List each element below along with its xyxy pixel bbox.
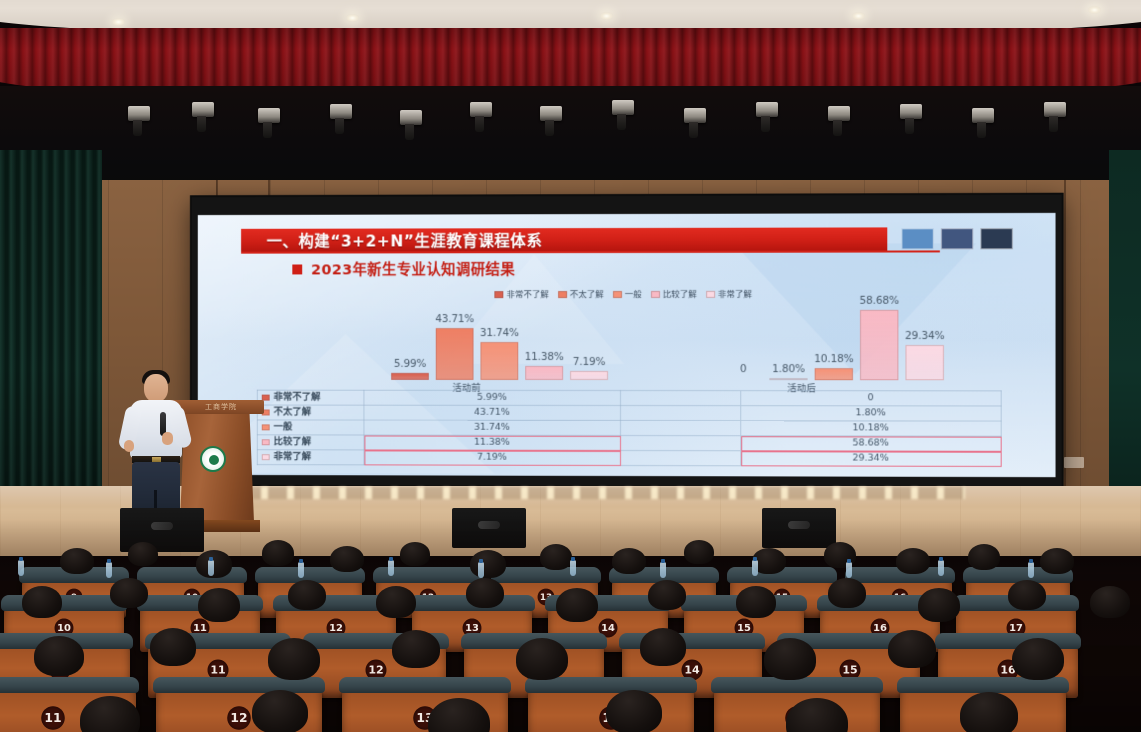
stage-light-icon	[828, 106, 850, 121]
table-row-label: 不太了解	[257, 405, 364, 420]
table-label-text: 比较了解	[274, 435, 312, 449]
stage-light-icon	[330, 104, 352, 119]
bar-value-label: 11.38%	[525, 351, 564, 363]
presentation-slide: 一、构建“3+2+N”生涯教育课程体系 2023年新生专业认知调研结果 非常不了…	[198, 213, 1056, 477]
bar	[815, 368, 853, 380]
water-bottle	[106, 562, 112, 578]
table-spacer-cell	[621, 420, 741, 435]
decor-block-2	[941, 228, 973, 249]
legend-item: 比较了解	[651, 288, 697, 300]
legend-item: 非常了解	[706, 288, 752, 300]
stage-light-icon	[470, 102, 492, 117]
audience-member-silhouette	[466, 578, 504, 608]
table-cell-before: 11.38%	[364, 435, 621, 450]
audience-member-silhouette	[252, 690, 308, 732]
projection-screen: 一、构建“3+2+N”生涯教育课程体系 2023年新生专业认知调研结果 非常不了…	[192, 195, 1062, 488]
audience-member-silhouette	[128, 542, 158, 566]
audience-member-silhouette	[828, 578, 866, 608]
slide-subtitle-row: 2023年新生专业认知调研结果	[292, 258, 515, 279]
water-bottle	[846, 562, 852, 578]
table-swatch-icon	[262, 424, 270, 430]
stage-light-icon	[540, 106, 562, 121]
table-cell-before: 43.71%	[364, 405, 621, 420]
table-spacer-cell	[621, 390, 741, 405]
audience-member-silhouette	[198, 588, 240, 622]
water-bottle	[18, 560, 24, 576]
bar-value-label: 0	[740, 363, 747, 375]
footlight-strip	[235, 487, 965, 499]
table-cell-after: 0	[741, 391, 1001, 406]
bar-value-label: 31.74%	[480, 327, 519, 339]
bar-value-label: 5.99%	[394, 358, 426, 370]
table-spacer-cell	[621, 435, 741, 450]
legend-item: 非常不了解	[495, 288, 549, 300]
bar	[525, 366, 563, 380]
legend-swatch-icon	[613, 291, 622, 298]
bullet-square-icon	[292, 264, 302, 274]
seat-headrest	[0, 677, 139, 693]
ceiling-downlight	[346, 14, 359, 22]
decor-block-3	[980, 228, 1012, 249]
bar	[480, 342, 518, 380]
water-bottle	[208, 560, 214, 576]
audience-member-silhouette	[22, 586, 62, 618]
bar-group-before: 5.99%43.71%31.74%11.38%7.19%	[391, 300, 608, 380]
bar-value-label: 7.19%	[573, 356, 605, 368]
legend-label: 不太了解	[570, 288, 604, 300]
legend-swatch-icon	[495, 291, 504, 298]
bar-column: 58.68%	[860, 300, 898, 380]
audience-member-silhouette	[764, 638, 816, 680]
table-cell-before: 5.99%	[364, 390, 621, 405]
table-row: 非常不了解5.99%0	[257, 390, 1001, 406]
stage-light-icon	[612, 100, 634, 115]
ceiling-downlight	[852, 12, 865, 20]
table-label-text: 非常了解	[274, 450, 312, 464]
chart-legend: 非常不了解不太了解一般比较了解非常了解	[198, 288, 1056, 301]
legend-swatch-icon	[651, 290, 660, 297]
table-spacer-cell	[621, 450, 741, 465]
table-row-label: 比较了解	[257, 435, 364, 450]
table-row-label: 非常不了解	[257, 390, 364, 405]
audience-member-silhouette	[516, 638, 568, 680]
audience-member-silhouette	[60, 548, 94, 574]
bar-column: 1.80%	[769, 300, 807, 380]
table-swatch-icon	[262, 439, 270, 445]
bar-column: 5.99%	[391, 300, 429, 380]
seat-number-badge: 11	[41, 706, 65, 730]
bar-column: 31.74%	[480, 300, 518, 380]
table-row: 一般31.74%10.18%	[257, 420, 1001, 436]
stage-light-icon	[756, 102, 778, 117]
data-table: 活动前活动后非常不了解5.99%0不太了解43.71%1.80%一般31.74%…	[257, 390, 1002, 467]
school-emblem-icon	[200, 446, 226, 472]
water-bottle	[660, 562, 666, 578]
bar-value-label: 10.18%	[814, 353, 853, 365]
legend-item: 不太了解	[558, 288, 604, 300]
decor-block-1	[901, 228, 933, 249]
legend-item: 一般	[613, 288, 642, 300]
table-label-text: 非常不了解	[274, 391, 321, 405]
water-bottle	[298, 562, 304, 578]
table-cell-after: 1.80%	[741, 406, 1001, 421]
table-cell-before: 31.74%	[364, 420, 621, 435]
bar-value-label: 58.68%	[860, 294, 899, 306]
audience-member-silhouette	[196, 550, 232, 578]
speaker-presenter	[120, 368, 192, 528]
audience-member-silhouette	[268, 638, 320, 680]
bar	[860, 309, 898, 380]
table-spacer-cell	[621, 405, 741, 420]
bar	[436, 328, 474, 380]
water-bottle	[478, 562, 484, 578]
audience-member-silhouette	[684, 540, 714, 564]
water-bottle	[938, 560, 944, 576]
audience-member-silhouette	[1012, 638, 1064, 680]
audience-member-silhouette	[376, 586, 416, 618]
table-cell-before: 7.19%	[364, 450, 621, 466]
speaker-head	[144, 374, 168, 402]
audience-member-silhouette	[612, 548, 646, 574]
bar-column: 10.18%	[815, 300, 853, 380]
audience-member-silhouette	[110, 578, 148, 608]
bar-column: 29.34%	[905, 300, 943, 381]
seat-headrest	[491, 567, 601, 583]
audience-member-silhouette	[1090, 586, 1130, 618]
table-row-label: 一般	[257, 420, 364, 435]
ceiling-downlight	[600, 12, 613, 20]
audience-member-silhouette	[606, 690, 662, 732]
legend-label: 非常了解	[718, 288, 752, 300]
slide-subtitle: 2023年新生专业认知调研结果	[311, 258, 515, 279]
audience-member-silhouette	[556, 588, 598, 622]
audience-member-silhouette	[960, 692, 1018, 732]
audience-member-silhouette	[540, 544, 572, 570]
slide-title-bar: 一、构建“3+2+N”生涯教育课程体系	[241, 227, 887, 251]
audience-member-silhouette	[392, 630, 440, 668]
audience-member-silhouette	[918, 588, 960, 622]
bar-value-label: 29.34%	[905, 330, 944, 342]
table-row: 比较了解11.38%58.68%	[257, 435, 1001, 452]
legend-label: 比较了解	[663, 288, 697, 300]
audience-member-silhouette	[648, 580, 686, 610]
speaker-left-hand	[124, 440, 134, 452]
audience-member-silhouette	[896, 548, 930, 574]
bar-column: 11.38%	[525, 300, 563, 380]
seat-number-badge: 12	[227, 706, 251, 730]
bar-group-after: 01.80%10.18%58.68%29.34%	[724, 300, 944, 381]
legend-label: 非常不了解	[507, 288, 549, 300]
bar-chart: 5.99%43.71%31.74%11.38%7.19% 01.80%10.18…	[198, 300, 1056, 393]
water-bottle	[570, 560, 576, 576]
bar-column: 0	[724, 300, 762, 380]
podium-engraving: 工商学院	[184, 402, 258, 412]
ceiling-downlight	[112, 18, 125, 26]
audience-member-silhouette	[400, 542, 430, 566]
table-cell-after: 10.18%	[741, 421, 1001, 437]
table-row: 非常了解7.19%29.34%	[257, 450, 1001, 467]
audience-member-silhouette	[150, 628, 196, 666]
bar	[391, 373, 429, 380]
audience-member-silhouette	[330, 546, 364, 572]
legend-swatch-icon	[706, 290, 715, 297]
stage-light-icon	[684, 108, 706, 123]
table-cell-after: 58.68%	[741, 436, 1001, 452]
water-bottle	[752, 560, 758, 576]
seat-headrest	[339, 677, 511, 693]
audience-member-silhouette	[262, 540, 294, 566]
bar-column: 43.71%	[436, 300, 474, 380]
bar	[905, 345, 943, 380]
audience-member-silhouette	[1008, 580, 1046, 610]
audience-member-silhouette	[1040, 548, 1074, 574]
seat-headrest	[1, 595, 127, 611]
water-bottle	[388, 560, 394, 576]
stage-light-icon	[900, 104, 922, 119]
stage-light-icon	[400, 110, 422, 125]
audience-member-silhouette	[288, 580, 326, 610]
table-label-text: 不太了解	[274, 406, 312, 420]
bar-value-label: 43.71%	[435, 313, 474, 325]
table-swatch-icon	[262, 454, 270, 460]
bar	[570, 371, 608, 380]
stage-light-icon	[1044, 102, 1066, 117]
audience-seating: 9101112131415161710111213141516171011121…	[0, 520, 1141, 732]
legend-label: 一般	[625, 288, 642, 300]
legend-swatch-icon	[558, 291, 567, 298]
stage-light-icon	[192, 102, 214, 117]
table-row-label: 非常了解	[257, 450, 364, 465]
stage-light-icon	[128, 106, 150, 121]
ceiling-downlight	[1088, 6, 1101, 14]
audience-member-silhouette	[640, 628, 686, 666]
audience-member-silhouette	[34, 636, 84, 676]
audience-member-silhouette	[736, 586, 776, 618]
slide-title: 一、构建“3+2+N”生涯教育课程体系	[241, 229, 542, 252]
water-bottle	[1028, 562, 1034, 578]
table-row: 不太了解43.71%1.80%	[257, 405, 1001, 421]
table-cell-after: 29.34%	[741, 451, 1001, 467]
audience-member-silhouette	[470, 550, 506, 578]
bar-column: 7.19%	[570, 300, 608, 380]
bar-value-label: 1.80%	[772, 363, 805, 375]
table-label-text: 一般	[274, 420, 293, 434]
stage-light-icon	[258, 108, 280, 123]
stage-light-icon	[972, 108, 994, 123]
audience-member-silhouette	[968, 544, 1000, 570]
wall-plate	[1064, 457, 1084, 468]
audience-member-silhouette	[888, 630, 936, 668]
speaker-right-hand	[162, 432, 173, 445]
auditorium-scene: 一、构建“3+2+N”生涯教育课程体系 2023年新生专业认知调研结果 非常不了…	[0, 0, 1141, 732]
